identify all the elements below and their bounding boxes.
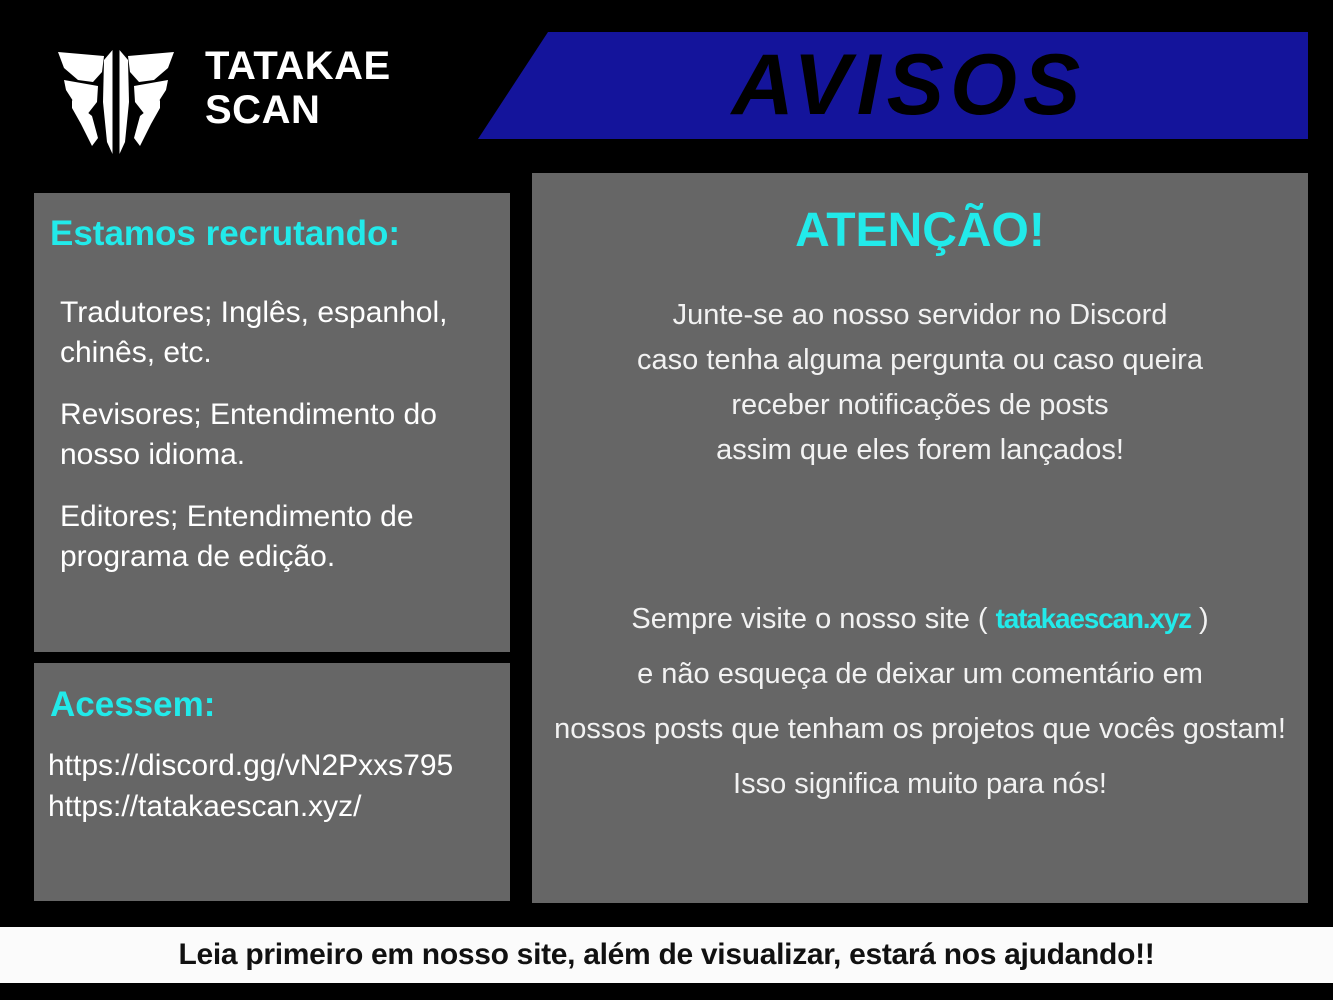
recruiting-panel: Estamos recrutando: Tradutores; Inglês, … <box>34 193 510 652</box>
text-line: e não esqueça de deixar um comentário em <box>532 647 1308 702</box>
website-link[interactable]: https://tatakaescan.xyz/ <box>48 786 498 827</box>
list-item: Editores; Entendimento de programa de ed… <box>50 497 498 577</box>
attention-panel: ATENÇÃO! Junte-se ao nosso servidor no D… <box>532 173 1308 903</box>
text-line-site: Sempre visite o nosso site ( tatakaescan… <box>532 591 1308 647</box>
list-item: Revisores; Entendimento do nosso idioma. <box>50 395 498 475</box>
tatakae-emblem-icon <box>52 42 180 158</box>
site-domain-highlight[interactable]: tatakaescan.xyz <box>996 603 1191 634</box>
access-heading: Acessem: <box>50 685 215 725</box>
header-bar: TATAKAE SCAN AVISOS <box>0 0 1333 170</box>
text-line: Isso significa muito para nós! <box>532 757 1308 812</box>
text-line: receber notificações de posts <box>532 383 1308 428</box>
text-line: Junte-se ao nosso servidor no Discord <box>532 293 1308 338</box>
text-line: nossos posts que tenham os projetos que … <box>532 702 1308 757</box>
brand-line-2: SCAN <box>205 88 495 132</box>
footer-bar: Leia primeiro em nosso site, além de vis… <box>0 927 1333 983</box>
text-line: assim que eles forem lançados! <box>532 428 1308 473</box>
text-line: caso tenha alguma pergunta ou caso queir… <box>532 338 1308 383</box>
attention-heading: ATENÇÃO! <box>532 203 1308 259</box>
site-line-prefix: Sempre visite o nosso site ( <box>631 603 995 635</box>
access-links-list: https://discord.gg/vN2Pxxs795 https://ta… <box>48 745 498 827</box>
brand-line-1: TATAKAE <box>205 44 495 88</box>
list-item: Tradutores; Inglês, espanhol, chinês, et… <box>50 293 498 373</box>
announcement-poster: TATAKAE SCAN AVISOS Estamos recrutando: … <box>0 0 1333 1000</box>
discord-invite-link[interactable]: https://discord.gg/vN2Pxxs795 <box>48 745 498 786</box>
brand-name: TATAKAE SCAN <box>205 44 495 132</box>
footer-message: Leia primeiro em nosso site, além de vis… <box>178 938 1154 972</box>
access-links-panel: Acessem: https://discord.gg/vN2Pxxs795 h… <box>34 663 510 901</box>
recruiting-heading: Estamos recrutando: <box>50 214 400 254</box>
site-line-suffix: ) <box>1191 603 1209 635</box>
avisos-banner-title: AVISOS <box>494 32 1324 139</box>
attention-paragraph-site: Sempre visite o nosso site ( tatakaescan… <box>532 591 1308 812</box>
recruiting-roles-list: Tradutores; Inglês, espanhol, chinês, et… <box>50 293 498 599</box>
attention-paragraph-discord: Junte-se ao nosso servidor no Discord ca… <box>532 293 1308 473</box>
avisos-banner: AVISOS <box>478 32 1308 139</box>
